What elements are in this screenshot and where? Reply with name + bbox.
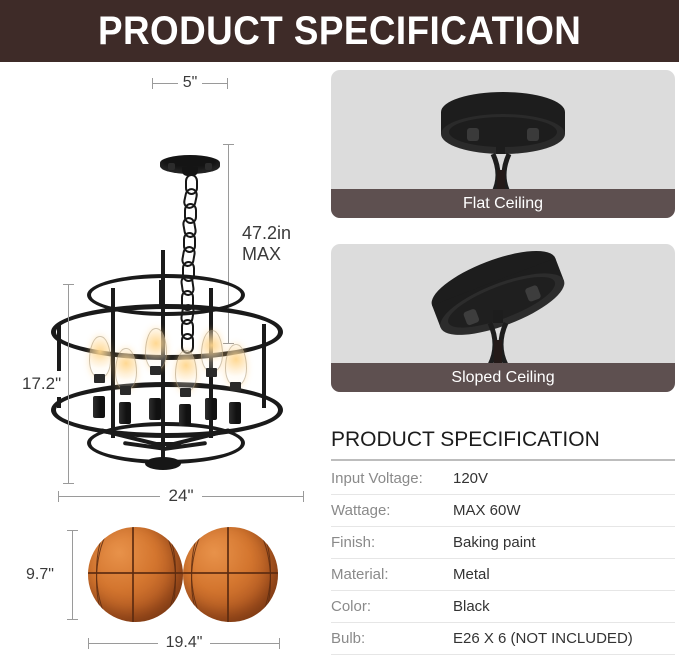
center-hub	[145, 457, 181, 470]
page-title: PRODUCT SPECIFICATION	[98, 9, 581, 54]
spec-label-wattage: Wattage:	[331, 495, 453, 527]
basketball	[183, 527, 278, 622]
spec-value-material: Metal	[453, 559, 675, 591]
dimension-basketball-width: 19.4"	[88, 632, 280, 654]
dimension-fixture-width-label: 24"	[160, 486, 203, 506]
dimension-basketball-height: 9.7"	[28, 530, 84, 620]
canopy-screw-left	[168, 163, 175, 170]
dimension-line	[68, 284, 69, 484]
basketball	[88, 527, 183, 622]
spec-value-bulb: E26 X 6 (NOT INCLUDED)	[453, 623, 675, 655]
bulb	[89, 336, 111, 378]
bulb-base	[94, 374, 105, 383]
spec-label-bulb: Bulb:	[331, 623, 453, 655]
mounting-options: Flat Ceiling Sloped Ceiling	[331, 70, 675, 418]
cage-strut	[159, 280, 163, 308]
dimension-canopy-width: 5"	[152, 72, 228, 94]
dimension-cap-top	[223, 144, 234, 145]
cage-strut	[111, 288, 115, 438]
bulb-base	[120, 386, 131, 395]
spec-label-input-voltage: Input Voltage:	[331, 463, 453, 495]
max-drop-value: 47.2in	[242, 223, 291, 244]
mount-card-flat-ceiling-caption: Flat Ceiling	[331, 189, 675, 218]
canopy-screw-right	[205, 163, 212, 170]
header-banner: PRODUCT SPECIFICATION	[0, 0, 679, 62]
table-row: Finish: Baking paint	[331, 527, 675, 559]
cage-ring-upper	[51, 304, 283, 360]
dimension-rule-right	[202, 83, 227, 84]
socket	[229, 402, 241, 424]
dimension-cap-bottom	[63, 483, 74, 484]
dimension-rule-left	[89, 643, 158, 644]
mount-card-flat-ceiling: Flat Ceiling	[331, 70, 675, 218]
table-row: Input Voltage: 120V	[331, 463, 675, 495]
spec-value-finish: Baking paint	[453, 527, 675, 559]
mount-card-sloped-ceiling: Sloped Ceiling	[331, 244, 675, 392]
dimension-fixture-height-label: 17.2"	[20, 371, 63, 397]
table-row: Bulb: E26 X 6 (NOT INCLUDED)	[331, 623, 675, 655]
spec-label-finish: Finish:	[331, 527, 453, 559]
mount-card-sloped-ceiling-caption: Sloped Ceiling	[331, 363, 675, 392]
bulb	[225, 344, 247, 386]
bulb	[175, 350, 197, 392]
specification-table: Input Voltage: 120V Wattage: MAX 60W Fin…	[331, 463, 675, 655]
socket	[179, 404, 191, 426]
dimension-cap-bottom	[67, 619, 78, 620]
specification-divider	[331, 459, 675, 461]
max-drop-suffix: MAX	[242, 244, 291, 265]
bulb-base	[150, 366, 161, 375]
specification-section: PRODUCT SPECIFICATION Input Voltage: 120…	[331, 428, 675, 655]
dimension-rule-left	[59, 496, 160, 497]
table-row: Wattage: MAX 60W	[331, 495, 675, 527]
canopy-illustration	[160, 155, 220, 174]
table-row: Material: Metal	[331, 559, 675, 591]
spec-value-input-voltage: 120V	[453, 463, 675, 495]
specification-table-body: Input Voltage: 120V Wattage: MAX 60W Fin…	[331, 463, 675, 655]
bulb	[145, 328, 167, 370]
dimension-cap-right	[227, 78, 228, 89]
dimension-canopy-width-label: 5"	[178, 74, 203, 92]
dimension-max-drop-label: 47.2in MAX	[242, 223, 291, 265]
dimension-cap-top	[67, 530, 78, 531]
dimension-rule-right	[210, 643, 279, 644]
basketball-seam	[96, 527, 176, 622]
dimension-rule-left	[153, 83, 178, 84]
dimension-basketball-width-label: 19.4"	[158, 634, 211, 652]
dimension-basketball-height-label: 9.7"	[24, 563, 56, 587]
bulb-base	[206, 368, 217, 377]
socket	[205, 398, 217, 420]
dimension-cap-right	[303, 491, 304, 502]
dimension-fixture-width: 24"	[58, 485, 304, 507]
spec-label-material: Material:	[331, 559, 453, 591]
bulb	[115, 348, 137, 390]
bulb-base	[180, 388, 191, 397]
socket	[149, 398, 161, 420]
dimension-cap-top	[63, 284, 74, 285]
bulb	[201, 330, 223, 372]
socket	[119, 402, 131, 424]
dimension-rule-right	[202, 496, 303, 497]
specification-title: PRODUCT SPECIFICATION	[331, 428, 675, 459]
spec-value-color: Black	[453, 591, 675, 623]
dimension-cap-right	[279, 638, 280, 649]
basketball-scale-reference	[88, 527, 278, 627]
spec-label-color: Color:	[331, 591, 453, 623]
basketball-seam	[191, 527, 271, 622]
dimension-fixture-height: 17.2"	[22, 284, 82, 484]
table-row: Color: Black	[331, 591, 675, 623]
dimension-line	[72, 530, 73, 620]
socket	[93, 396, 105, 418]
bulb-base	[230, 382, 241, 391]
product-diagram: 5" 47.2in MAX	[0, 62, 325, 654]
cage-strut	[262, 324, 266, 408]
spec-value-wattage: MAX 60W	[453, 495, 675, 527]
